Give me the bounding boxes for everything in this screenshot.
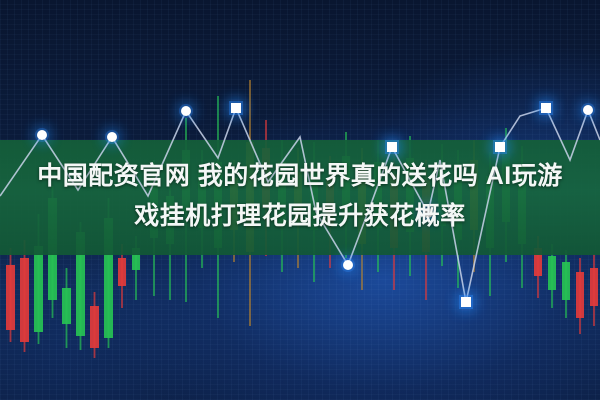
headline-line-1: 中国配资官网 我的花园世界真的送花吗 AI玩游 [0, 156, 600, 196]
headline-line-2: 戏挂机打理花园提升获花概率 [0, 196, 600, 236]
banner-image: 中国配资官网 我的花园世界真的送花吗 AI玩游 戏挂机打理花园提升获花概率 [0, 0, 600, 400]
headline-text: 中国配资官网 我的花园世界真的送花吗 AI玩游 戏挂机打理花园提升获花概率 [0, 156, 600, 236]
